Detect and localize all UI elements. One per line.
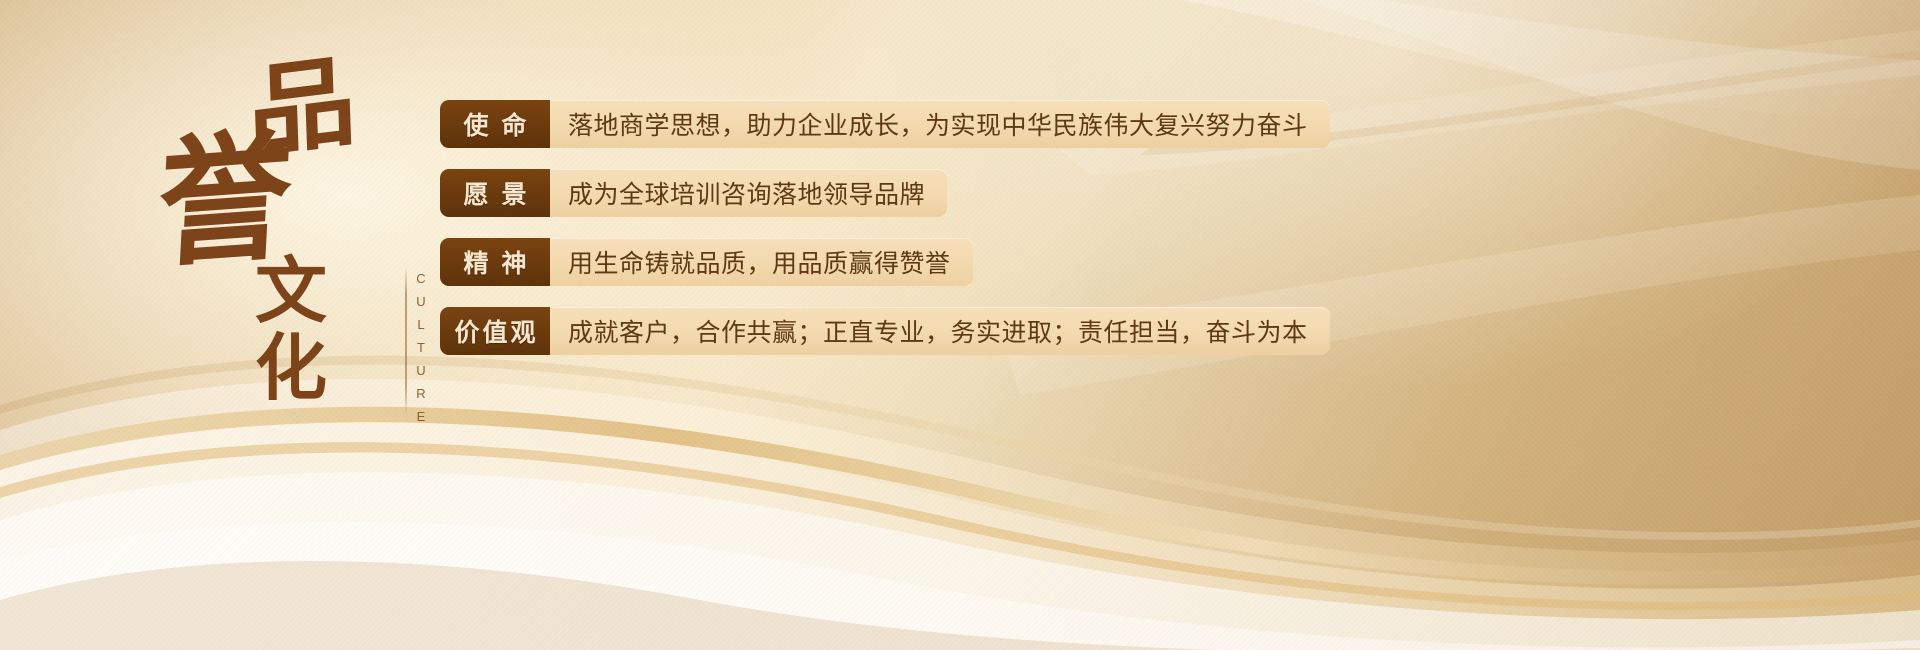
statement-row-mission: 使 命 落地商学思想，助力企业成长，为实现中华民族伟大复兴努力奋斗	[440, 100, 1330, 148]
calligraphy-char-hua: 化	[255, 332, 327, 404]
row-label-mission: 使 命	[440, 100, 550, 148]
brand-logo-block: 品 誉 文 化 C U L T U R E	[150, 40, 450, 390]
statement-row-values: 价值观 成就客户，合作共赢；正直专业，务实进取；责任担当，奋斗为本	[440, 307, 1330, 355]
row-content-spirit: 用生命铸就品质，用品质赢得赞誉	[550, 238, 973, 286]
row-label-spirit: 精 神	[440, 238, 550, 286]
statement-row-spirit: 精 神 用生命铸就品质，用品质赢得赞誉	[440, 238, 1330, 286]
vertical-divider	[405, 267, 407, 417]
calligraphy-char-wen: 文	[255, 255, 327, 327]
statement-row-vision: 愿 景 成为全球培训咨询落地领导品牌	[440, 169, 1330, 217]
row-content-values: 成就客户，合作共赢；正直专业，务实进取；责任担当，奋斗为本	[550, 307, 1330, 355]
row-content-vision: 成为全球培训咨询落地领导品牌	[550, 169, 947, 217]
culture-letter: U	[414, 295, 428, 308]
culture-letter: C	[414, 272, 428, 285]
row-label-vision: 愿 景	[440, 169, 550, 217]
culture-letter: L	[414, 318, 428, 331]
culture-letter: E	[414, 410, 428, 423]
culture-vertical-label: C U L T U R E	[414, 272, 428, 433]
culture-letter: T	[414, 341, 428, 354]
culture-letter: R	[414, 387, 428, 400]
culture-letter: U	[414, 364, 428, 377]
culture-banner: 品 誉 文 化 C U L T U R E 使 命 落地商学思想，助力企业成长，…	[0, 0, 1920, 650]
row-label-values: 价值观	[440, 307, 550, 355]
statement-rows: 使 命 落地商学思想，助力企业成长，为实现中华民族伟大复兴努力奋斗 愿 景 成为…	[440, 100, 1330, 376]
row-content-mission: 落地商学思想，助力企业成长，为实现中华民族伟大复兴努力奋斗	[550, 100, 1330, 148]
